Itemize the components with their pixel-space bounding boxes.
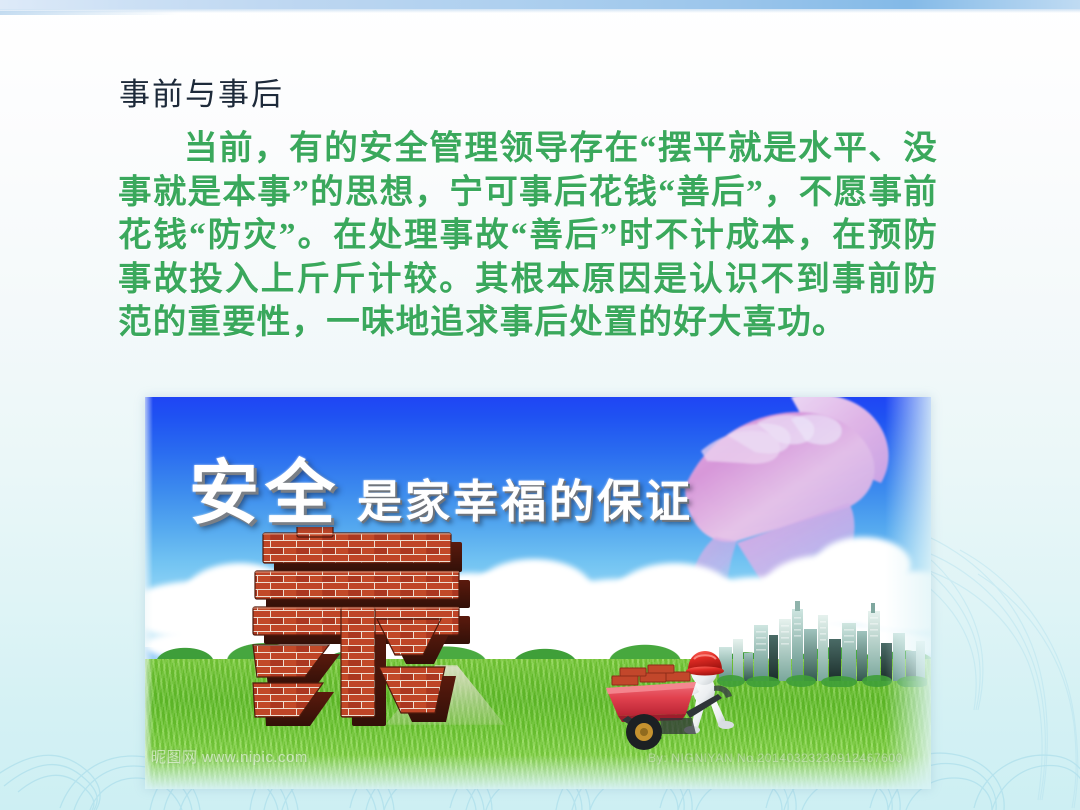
- picture-left-fade: [145, 397, 153, 789]
- page-title: 事前与事后: [119, 76, 284, 115]
- body-paragraph: 当前，有的安全管理领导存在“摆平就是水平、没事就是本事”的思想，宁可事后花钱“善…: [118, 127, 938, 345]
- headline-primary: 安全: [189, 437, 341, 538]
- headline-secondary: 是家幸福的保证: [357, 465, 693, 530]
- watermark-left: 昵图网 www.nipic.com: [151, 746, 308, 767]
- poster-headline: 安全 是家幸福的保证: [189, 437, 693, 538]
- picture-right-fade: [885, 397, 931, 789]
- worker-with-wheelbarrow: [600, 622, 760, 752]
- top-accent-strip-highlight: [0, 11, 180, 15]
- slide-canvas: 事前与事后 当前，有的安全管理领导存在“摆平就是水平、没事就是本事”的思想，宁可…: [0, 0, 1080, 810]
- safety-poster-image: 安全 是家幸福的保证: [145, 397, 931, 789]
- watermark-right: By: NIGNIYAN No.20140323230912467600: [648, 751, 903, 765]
- top-accent-strip: [0, 0, 1080, 9]
- brick-character-jia: [245, 527, 505, 742]
